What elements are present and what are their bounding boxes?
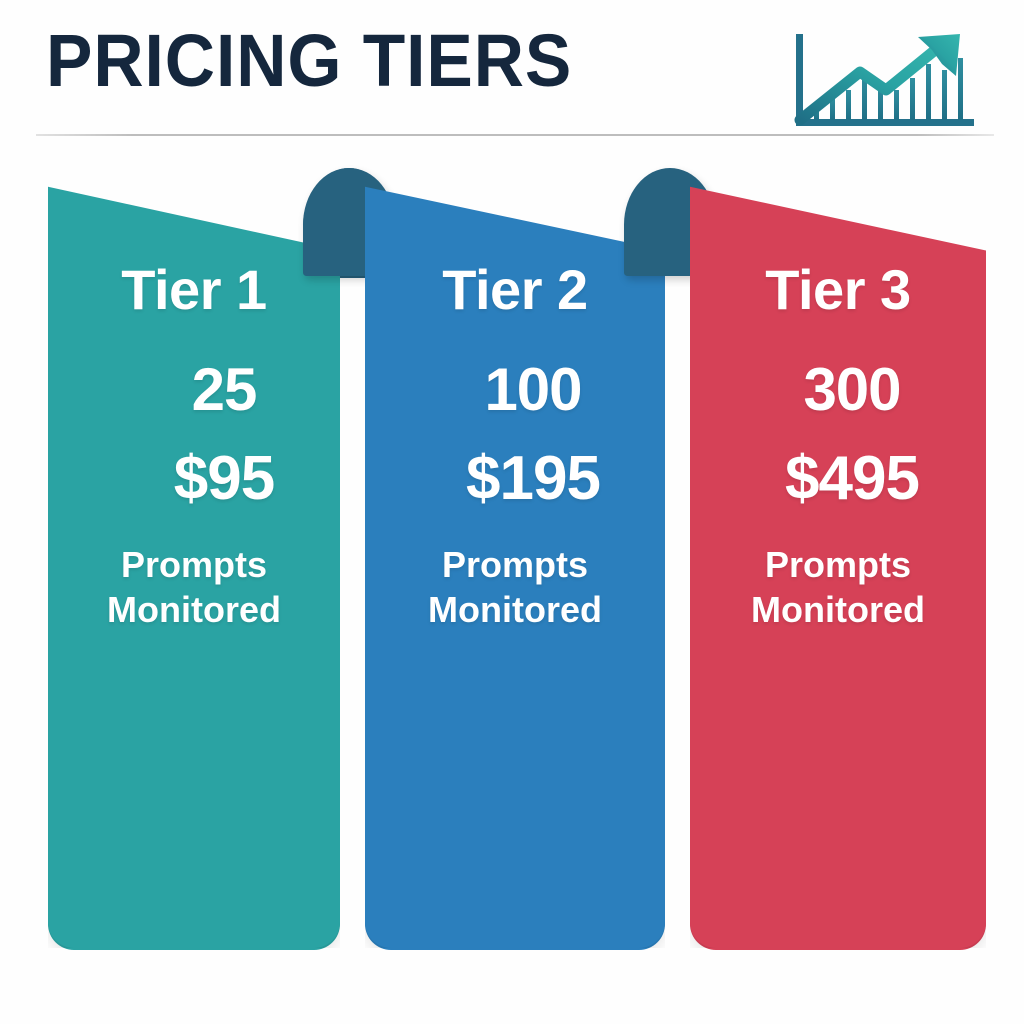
- tier-caption: Prompts Monitored: [365, 542, 665, 633]
- tier-name: Tier 1: [48, 262, 340, 318]
- tier-name: Tier 3: [690, 262, 986, 318]
- tier-caption-line-2: Monitored: [48, 587, 340, 632]
- page-title: PRICING TIERS: [46, 24, 572, 98]
- tier-caption-line-2: Monitored: [690, 587, 986, 632]
- tier-prompt-count: 100: [365, 360, 683, 420]
- pricing-tiers-infographic: PRICING TIERS: [0, 0, 1024, 1024]
- tier-content: Tier 2 100 $195 Prompts Monitored: [365, 150, 665, 948]
- tier-card-3[interactable]: Tier 3 300 $495 Prompts Monitored: [690, 150, 986, 950]
- tier-name: Tier 2: [365, 262, 665, 318]
- tier-prompt-count: 300: [690, 360, 1000, 420]
- tier-caption-line-1: Prompts: [690, 542, 986, 587]
- tier-card-1[interactable]: Tier 1 25 $95 Prompts Monitored: [48, 150, 340, 950]
- tier-caption-line-1: Prompts: [48, 542, 340, 587]
- tier-caption-line-2: Monitored: [365, 587, 665, 632]
- tier-price: $95: [48, 448, 370, 510]
- tier-caption: Prompts Monitored: [690, 542, 986, 633]
- header-divider: [36, 134, 994, 136]
- tier-caption-line-1: Prompts: [365, 542, 665, 587]
- tier-price: $195: [365, 448, 683, 510]
- tier-card-2[interactable]: Tier 2 100 $195 Prompts Monitored: [365, 150, 665, 950]
- tier-caption: Prompts Monitored: [48, 542, 340, 633]
- growth-chart-icon: [790, 28, 980, 134]
- tier-content: Tier 1 25 $95 Prompts Monitored: [48, 150, 340, 948]
- tier-content: Tier 3 300 $495 Prompts Monitored: [690, 150, 986, 948]
- tier-cards-container: Tier 1 25 $95 Prompts Monitored Tier 2 1…: [0, 150, 1024, 1024]
- tier-price: $495: [690, 448, 1000, 510]
- tier-prompt-count: 25: [48, 360, 370, 420]
- header: PRICING TIERS: [0, 0, 1024, 140]
